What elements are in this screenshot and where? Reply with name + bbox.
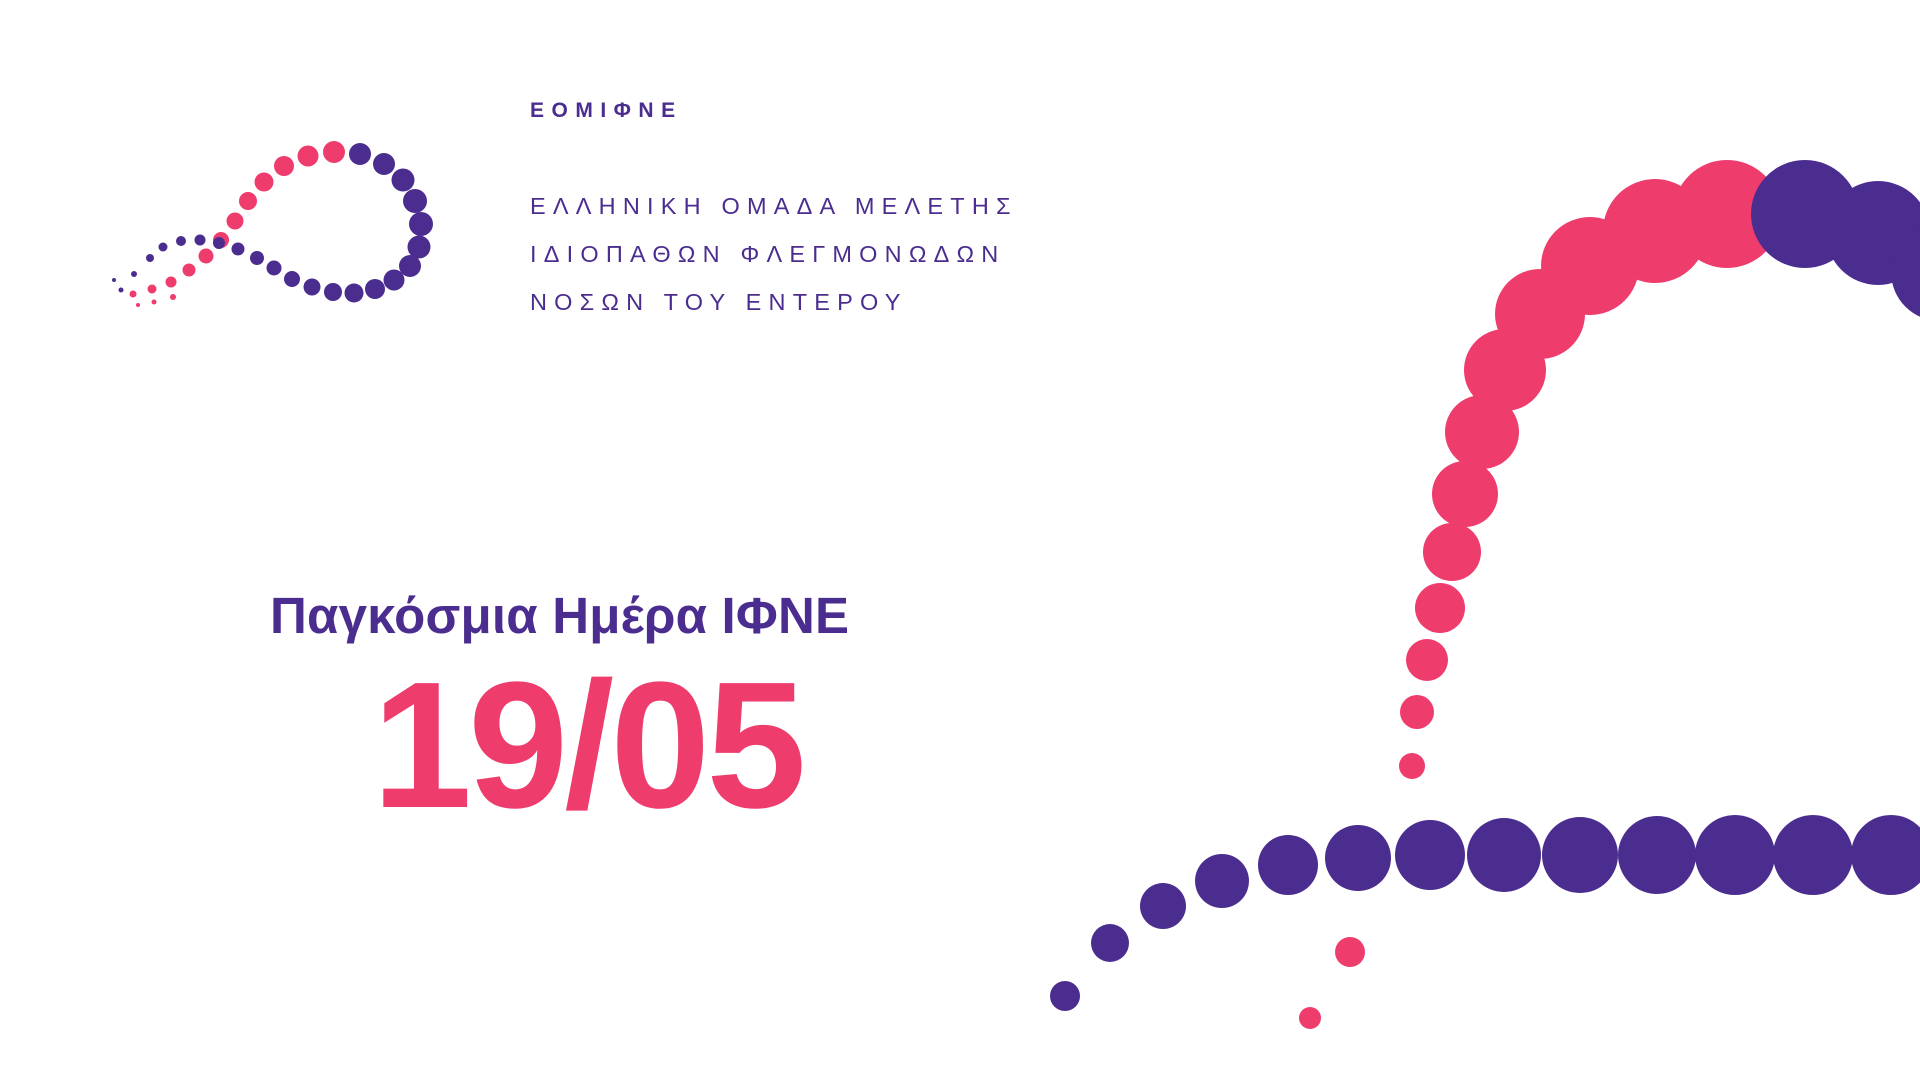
logo-wordmark: ΕΟΜΙΦΝΕ ΕΛΛΗΝΙΚΗ ΟΜΑΔΑ ΜΕΛΕΤΗΣ ΙΔΙΟΠΑΘΩΝ…: [530, 100, 1230, 326]
decor-pink-rising-curve: [1299, 160, 1781, 1029]
poster-canvas: ΕΟΜΙΦΝΕ ΕΛΛΗΝΙΚΗ ΟΜΑΔΑ ΜΕΛΕΤΗΣ ΙΔΙΟΠΑΘΩΝ…: [0, 0, 1920, 1080]
decor-purple-band: [1050, 815, 1920, 1011]
headline-block: Παγκόσμια Ημέρα ΙΦΝΕ 19/05: [270, 588, 1170, 836]
eomifne-dotted-loop-logo: [78, 90, 458, 315]
logo-acronym: ΕΟΜΙΦΝΕ: [530, 100, 1230, 121]
logo-fullname-line-2: ΙΔΙΟΠΑΘΩΝ ΦΛΕΓΜΟΝΩΔΩΝ: [530, 230, 1230, 278]
logo-fullname: ΕΛΛΗΝΙΚΗ ΟΜΑΔΑ ΜΕΛΕΤΗΣ ΙΔΙΟΠΑΘΩΝ ΦΛΕΓΜΟΝ…: [530, 182, 1230, 326]
event-date: 19/05: [372, 656, 1170, 836]
page-title: Παγκόσμια Ημέρα ΙΦΝΕ: [270, 588, 1170, 644]
logo-pink-dots: [130, 141, 346, 298]
decor-purple-arc: [1751, 160, 1920, 367]
logo-fullname-line-3: ΝΟΣΩΝ ΤΟΥ ΕΝΤΕΡΟΥ: [530, 278, 1230, 326]
logo-accent-dots: [112, 271, 176, 307]
logo-fullname-line-1: ΕΛΛΗΝΙΚΗ ΟΜΑΔΑ ΜΕΛΕΤΗΣ: [530, 182, 1230, 230]
